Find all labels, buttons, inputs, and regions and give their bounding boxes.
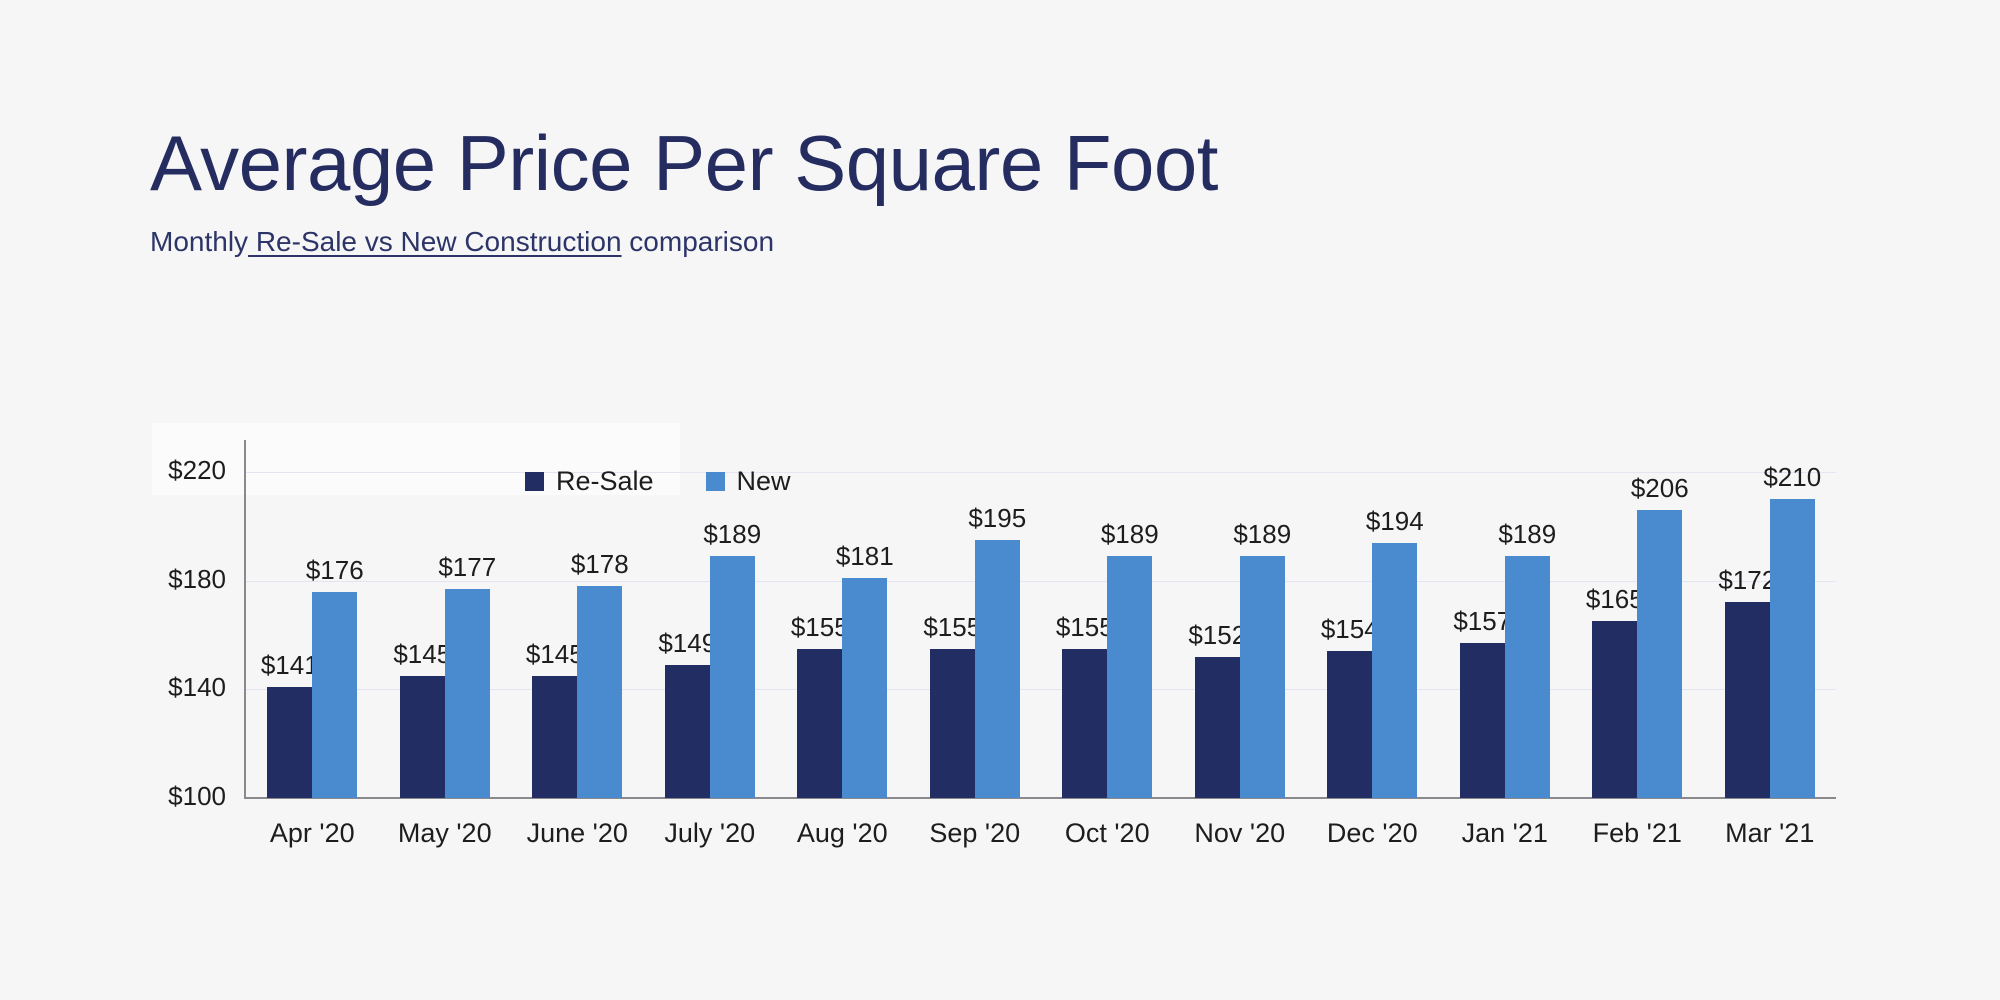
legend-label-new: New [737,466,791,497]
bar-group: $172$210 [1704,440,1837,798]
bar-value-label: $155 [1056,612,1114,643]
x-tick-label: Apr '20 [270,818,355,849]
x-tick-label: July '20 [664,818,755,849]
slide-canvas: Average Price Per Square Foot Monthly Re… [0,0,2000,1000]
bar-value-label: $206 [1631,473,1689,504]
bar-new[interactable] [445,589,490,798]
bar-re-sale[interactable] [665,665,710,798]
bar-value-label: $145 [526,639,584,670]
x-tick-label: Nov '20 [1194,818,1285,849]
bar-value-label: $165 [1586,584,1644,615]
bar-new[interactable] [710,556,755,798]
legend-swatch-resale [525,472,544,491]
bar-value-label: $181 [836,541,894,572]
bar-re-sale[interactable] [267,687,312,798]
x-tick-label: Feb '21 [1593,818,1682,849]
bar-group: $155$195 [909,440,1042,798]
bar-value-label: $210 [1763,462,1821,493]
bar-new[interactable] [312,592,357,798]
bar-value-label: $189 [1233,519,1291,550]
x-axis-tick-labels: Apr '20May '20June '20July '20Aug '20Sep… [246,818,1836,858]
bar-value-label: $155 [791,612,849,643]
bar-group: $155$181 [776,440,909,798]
bar-re-sale[interactable] [1327,651,1372,798]
bar-value-label: $155 [923,612,981,643]
chart-legend: Re-Sale New [525,466,791,497]
legend-item-new[interactable]: New [706,466,791,497]
bar-re-sale[interactable] [797,649,842,798]
bar-new[interactable] [1240,556,1285,798]
bar-groups: $141$176$145$177$145$178$149$189$155$181… [246,440,1836,798]
bar-chart: $100$140$180$220 Re-Sale New $141$176$14… [0,0,2000,1000]
bar-re-sale[interactable] [1725,602,1770,798]
bar-value-label: $189 [1101,519,1159,550]
bar-group: $154$194 [1306,440,1439,798]
bar-re-sale[interactable] [532,676,577,798]
bar-re-sale[interactable] [1062,649,1107,798]
y-tick-label: $100 [86,781,226,812]
bar-new[interactable] [1505,556,1550,798]
bar-re-sale[interactable] [400,676,445,798]
bar-value-label: $189 [703,519,761,550]
bar-new[interactable] [1770,499,1815,798]
bar-value-label: $178 [571,549,629,580]
y-tick-label: $140 [86,672,226,703]
legend-label-resale: Re-Sale [556,466,654,497]
bar-re-sale[interactable] [930,649,975,798]
y-tick-label: $220 [86,455,226,486]
bar-value-label: $176 [306,555,364,586]
bar-new[interactable] [1637,510,1682,798]
bar-value-label: $152 [1188,620,1246,651]
bar-new[interactable] [975,540,1020,798]
y-tick-label: $180 [86,564,226,595]
bar-value-label: $145 [393,639,451,670]
x-tick-label: June '20 [527,818,628,849]
bar-value-label: $172 [1718,565,1776,596]
bar-re-sale[interactable] [1460,643,1505,798]
bar-group: $165$206 [1571,440,1704,798]
bar-value-label: $154 [1321,614,1379,645]
bar-group: $155$189 [1041,440,1174,798]
bar-value-label: $195 [968,503,1026,534]
legend-item-resale[interactable]: Re-Sale [525,466,654,497]
bar-value-label: $189 [1498,519,1556,550]
bar-group: $157$189 [1439,440,1572,798]
bar-value-label: $157 [1453,606,1511,637]
x-tick-label: Sep '20 [929,818,1020,849]
x-tick-label: Mar '21 [1725,818,1814,849]
bar-group: $152$189 [1174,440,1307,798]
x-tick-label: Dec '20 [1327,818,1418,849]
bar-re-sale[interactable] [1195,657,1240,798]
bar-new[interactable] [1107,556,1152,798]
x-tick-label: Jan '21 [1462,818,1548,849]
x-tick-label: Aug '20 [797,818,888,849]
x-tick-label: May '20 [398,818,492,849]
bar-value-label: $194 [1366,506,1424,537]
bar-new[interactable] [1372,543,1417,798]
bar-re-sale[interactable] [1592,621,1637,798]
bar-new[interactable] [577,586,622,798]
bar-group: $145$177 [379,440,512,798]
bar-value-label: $177 [438,552,496,583]
bar-new[interactable] [842,578,887,798]
legend-swatch-new [706,472,725,491]
x-tick-label: Oct '20 [1065,818,1150,849]
bar-group: $141$176 [246,440,379,798]
bar-value-label: $149 [658,628,716,659]
bar-value-label: $141 [261,650,319,681]
